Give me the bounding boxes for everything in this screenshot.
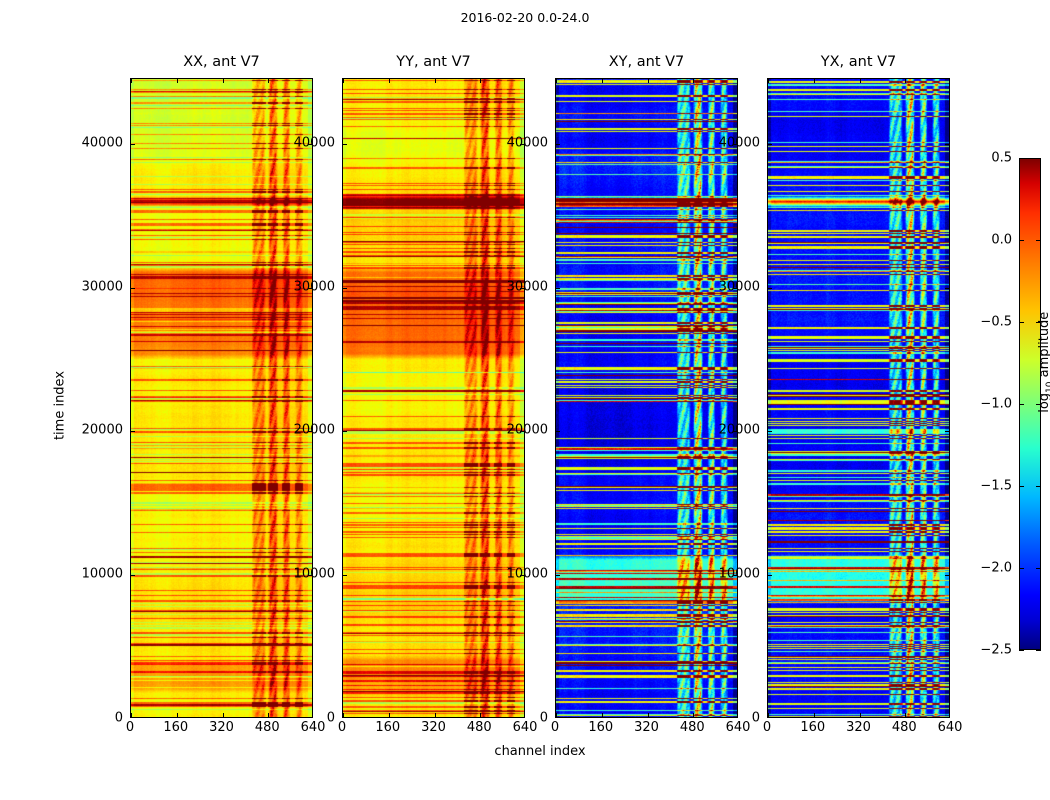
y-tick: [945, 575, 950, 576]
y-tick-label: 20000: [719, 423, 760, 438]
x-tick-label: 160: [163, 720, 188, 735]
y-tick-label: 30000: [82, 279, 123, 294]
x-tick: [268, 78, 269, 83]
y-tick: [767, 288, 772, 289]
x-tick: [343, 713, 344, 718]
x-tick: [556, 713, 557, 718]
x-tick: [177, 78, 178, 83]
x-tick: [480, 713, 481, 718]
y-tick-label: 30000: [294, 279, 335, 294]
x-tick: [905, 78, 906, 83]
y-tick: [555, 288, 560, 289]
y-tick: [130, 431, 135, 432]
y-tick: [945, 144, 950, 145]
y-tick-label: 10000: [719, 567, 760, 582]
panel-yx: YX, ant V7016032048064001000020000300004…: [767, 78, 950, 718]
colorbar-tick-label: −2.0: [980, 561, 1012, 576]
y-axis-label: time index: [53, 336, 68, 476]
x-tick-label: 160: [375, 720, 400, 735]
y-tick: [945, 288, 950, 289]
x-tick: [177, 713, 178, 718]
waterfall-image: [767, 78, 950, 718]
x-tick: [693, 713, 694, 718]
x-tick-label: 640: [726, 720, 751, 735]
colorbar-tick: [1019, 240, 1024, 241]
x-tick: [768, 78, 769, 83]
colorbar-label-text: log: [1037, 393, 1050, 413]
panel-title: YY, ant V7: [342, 54, 525, 70]
y-tick-label: 10000: [507, 567, 548, 582]
y-tick: [555, 575, 560, 576]
y-tick: [555, 431, 560, 432]
x-tick-label: 640: [513, 720, 538, 735]
colorbar-tick-label: −2.5: [980, 643, 1012, 658]
x-tick-label: 0: [551, 720, 559, 735]
colorbar-tick: [1019, 650, 1024, 651]
colorbar-label-tail: amplitude: [1037, 312, 1050, 382]
y-tick-label: 40000: [294, 135, 335, 150]
y-tick-label: 0: [115, 711, 123, 726]
y-tick-label: 10000: [294, 567, 335, 582]
figure-canvas: 2016-02-20 0.0-24.0 time index channel i…: [0, 0, 1050, 800]
waterfall-canvas: [131, 79, 313, 718]
y-tick: [130, 575, 135, 576]
x-tick: [268, 713, 269, 718]
y-tick-label: 40000: [82, 135, 123, 150]
y-tick-label: 20000: [82, 423, 123, 438]
colorbar-tick: [1036, 650, 1041, 651]
colorbar-label-sub: 10: [1045, 382, 1050, 393]
colorbar-tick: [1019, 158, 1024, 159]
x-tick-label: 480: [255, 720, 280, 735]
panel-xx: XX, ant V7016032048064001000020000300004…: [130, 78, 313, 718]
x-tick: [343, 78, 344, 83]
y-tick-label: 30000: [507, 279, 548, 294]
x-tick: [435, 713, 436, 718]
figure-suptitle: 2016-02-20 0.0-24.0: [0, 10, 1050, 25]
x-tick: [602, 713, 603, 718]
x-tick-label: 640: [938, 720, 963, 735]
waterfall-canvas: [556, 79, 738, 718]
y-tick: [767, 575, 772, 576]
y-tick: [767, 431, 772, 432]
colorbar-label: log10 amplitude: [1037, 312, 1050, 413]
x-tick-label: 0: [338, 720, 346, 735]
x-tick: [389, 713, 390, 718]
x-tick: [814, 713, 815, 718]
x-tick: [905, 713, 906, 718]
colorbar-tick-label: −0.5: [980, 315, 1012, 330]
colorbar-tick: [1019, 486, 1024, 487]
colorbar-tick-label: 0.0: [991, 233, 1012, 248]
x-tick: [814, 78, 815, 83]
x-tick-label: 160: [800, 720, 825, 735]
y-tick: [342, 575, 347, 576]
x-tick: [693, 78, 694, 83]
x-tick: [223, 78, 224, 83]
colorbar-tick: [1036, 568, 1041, 569]
colorbar-tick-label: −1.5: [980, 479, 1012, 494]
y-tick: [342, 431, 347, 432]
colorbar-tick: [1019, 322, 1024, 323]
colorbar-tick: [1036, 486, 1041, 487]
x-tick: [648, 713, 649, 718]
waterfall-canvas: [768, 79, 950, 718]
x-tick: [389, 78, 390, 83]
colorbar-tick-label: −1.0: [980, 397, 1012, 412]
x-tick-label: 0: [126, 720, 134, 735]
x-tick: [860, 713, 861, 718]
x-tick: [480, 78, 481, 83]
y-tick-label: 0: [752, 711, 760, 726]
y-tick: [342, 144, 347, 145]
x-tick-label: 480: [680, 720, 705, 735]
x-tick: [223, 713, 224, 718]
x-tick-label: 320: [209, 720, 234, 735]
y-tick-label: 30000: [719, 279, 760, 294]
y-tick-label: 40000: [719, 135, 760, 150]
y-tick: [130, 144, 135, 145]
waterfall-image: [342, 78, 525, 718]
waterfall-canvas: [343, 79, 525, 718]
panel-yy: YY, ant V7016032048064001000020000300004…: [342, 78, 525, 718]
x-tick-label: 320: [421, 720, 446, 735]
x-tick-label: 640: [301, 720, 326, 735]
x-tick-label: 320: [846, 720, 871, 735]
y-tick: [555, 144, 560, 145]
colorbar-tick: [1036, 158, 1041, 159]
waterfall-image: [130, 78, 313, 718]
x-tick: [131, 713, 132, 718]
y-tick-label: 40000: [507, 135, 548, 150]
x-tick: [648, 78, 649, 83]
x-tick-label: 160: [588, 720, 613, 735]
x-tick: [860, 78, 861, 83]
colorbar-tick: [1019, 404, 1024, 405]
colorbar-tick-label: 0.5: [991, 151, 1012, 166]
x-tick: [435, 78, 436, 83]
y-tick: [130, 288, 135, 289]
x-tick-label: 480: [467, 720, 492, 735]
x-tick-label: 0: [763, 720, 771, 735]
x-axis-label: channel index: [130, 744, 950, 759]
x-tick: [131, 78, 132, 83]
x-tick-label: 480: [892, 720, 917, 735]
y-tick-label: 20000: [294, 423, 335, 438]
waterfall-image: [555, 78, 738, 718]
x-tick: [768, 713, 769, 718]
y-tick-label: 0: [540, 711, 548, 726]
panel-title: YX, ant V7: [767, 54, 950, 70]
colorbar-tick: [1019, 568, 1024, 569]
panel-title: XX, ant V7: [130, 54, 313, 70]
panel-title: XY, ant V7: [555, 54, 738, 70]
y-tick: [767, 144, 772, 145]
colorbar-tick: [1036, 240, 1041, 241]
y-tick-label: 10000: [82, 567, 123, 582]
y-tick-label: 0: [327, 711, 335, 726]
x-tick: [602, 78, 603, 83]
y-tick: [342, 288, 347, 289]
y-tick-label: 20000: [507, 423, 548, 438]
x-tick-label: 320: [634, 720, 659, 735]
x-tick: [556, 78, 557, 83]
panel-xy: XY, ant V7016032048064001000020000300004…: [555, 78, 738, 718]
y-tick: [945, 431, 950, 432]
